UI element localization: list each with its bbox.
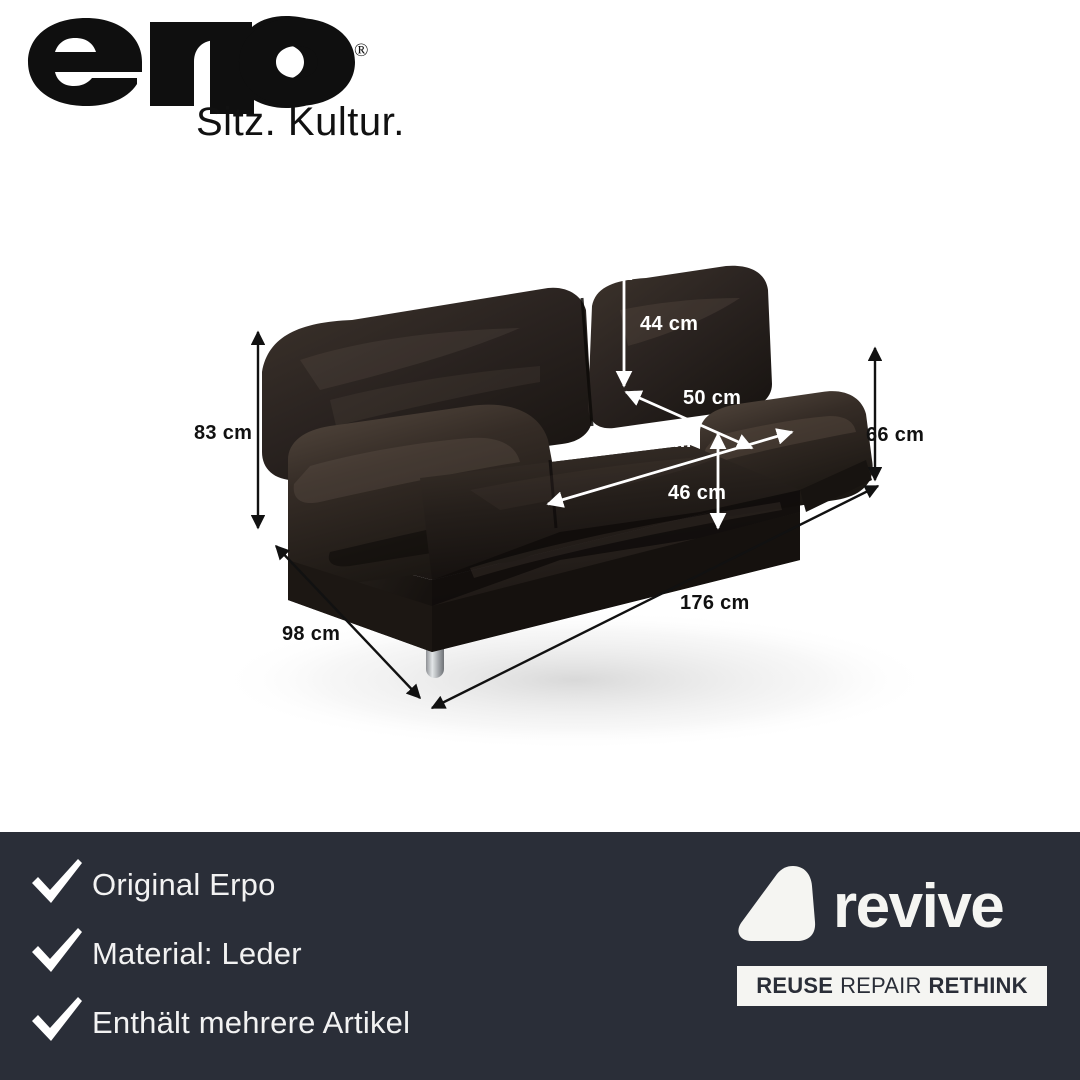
revive-tagline: REUSE REPAIR RETHINK: [737, 966, 1047, 1006]
dimension-label-seat-width: 109 cm: [622, 430, 692, 453]
revive-leaf-icon: [737, 864, 819, 949]
erpo-wordmark-icon: [24, 14, 404, 114]
feature-label: Material: Leder: [92, 936, 302, 972]
feature-list: Original Erpo Material: Leder Enthält me…: [30, 850, 650, 1057]
product-image-card: ® Sitz. Kultur.: [0, 0, 1080, 1080]
feature-label: Enthält mehrere Artikel: [92, 1005, 410, 1041]
dimension-label-backrest-height: 44 cm: [640, 313, 698, 336]
revive-logo: revive REUSE REPAIR RETHINK: [737, 860, 1047, 1006]
revive-wordmark: revive: [833, 871, 1003, 942]
feature-label: Original Erpo: [92, 867, 276, 903]
feature-item: Original Erpo: [30, 850, 650, 919]
tagline-part-repair: REPAIR: [840, 973, 921, 999]
dimension-label-height-total: 83 cm: [194, 422, 252, 445]
dimension-label-depth-total: 98 cm: [282, 623, 340, 646]
feature-item: Enthält mehrere Artikel: [30, 988, 650, 1057]
footer-banner: Original Erpo Material: Leder Enthält me…: [0, 832, 1080, 1080]
registered-trademark-symbol: ®: [354, 40, 368, 62]
product-photo: 83 cm 44 cm 50 cm 109 cm 46 cm 66 cm 98 …: [0, 160, 1080, 832]
check-icon: [30, 857, 92, 912]
check-icon: [30, 926, 92, 981]
sofa-illustration: [0, 160, 1080, 832]
brand-tagline: Sitz. Kultur.: [196, 100, 405, 145]
check-icon: [30, 995, 92, 1050]
feature-item: Material: Leder: [30, 919, 650, 988]
dimension-label-armrest-height: 66 cm: [866, 424, 924, 447]
tagline-part-reuse: REUSE: [756, 973, 833, 999]
dimension-label-seat-height: 46 cm: [668, 482, 726, 505]
dimension-label-seat-depth: 50 cm: [683, 387, 741, 410]
dimension-label-width-total: 176 cm: [680, 592, 750, 615]
tagline-part-rethink: RETHINK: [929, 973, 1028, 999]
